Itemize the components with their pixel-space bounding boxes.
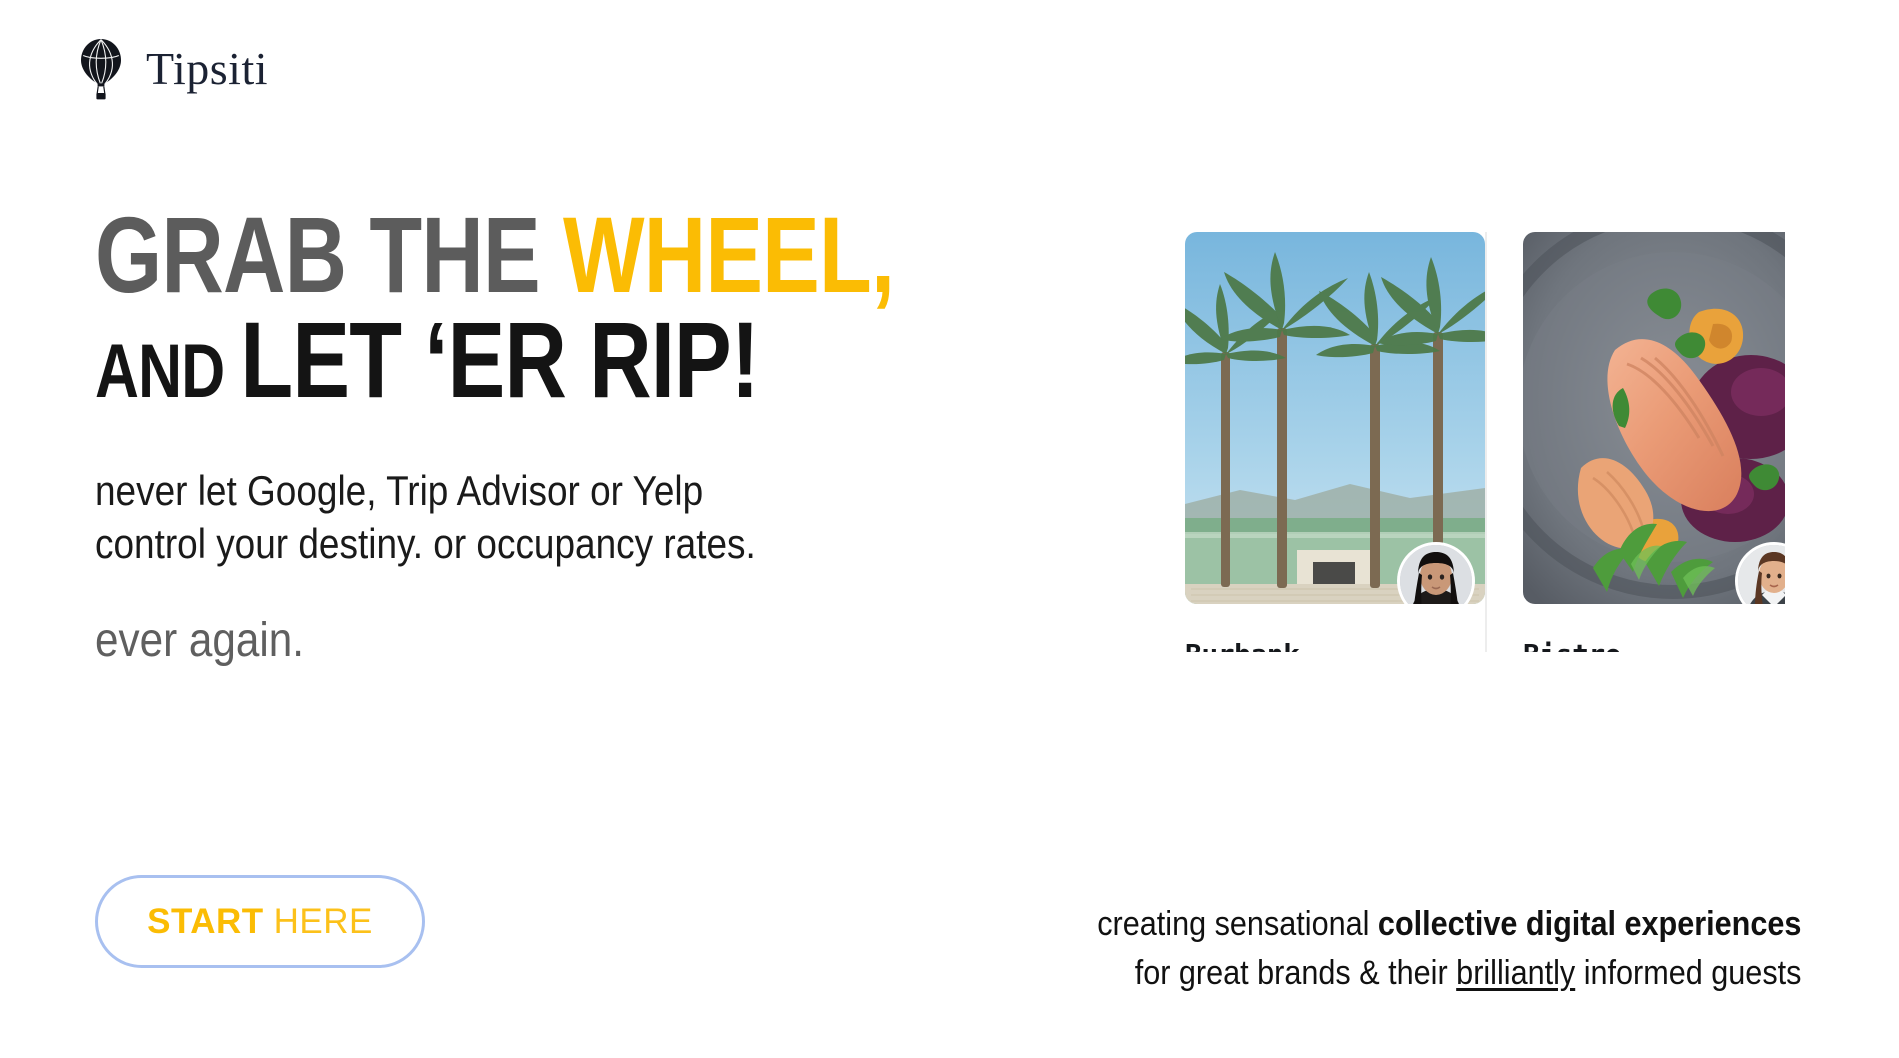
- tagline-line-2: for great brands & their brilliantly inf…: [1097, 949, 1801, 998]
- start-here-button[interactable]: START HERE: [95, 875, 425, 968]
- card-title: Burbank: [1185, 638, 1485, 652]
- headline-and: AND: [95, 329, 240, 414]
- hero-body-line-2: control your destiny. or occupancy rates…: [95, 517, 869, 571]
- cta-label-here: HERE: [274, 902, 373, 942]
- tagline-plain-1: creating sensational: [1097, 905, 1378, 943]
- card-title: Bistro Carmagnole: [1523, 638, 1785, 652]
- cta-label-start: START: [147, 902, 264, 942]
- hot-air-balloon-icon: [78, 38, 124, 100]
- card-bistro-carmagnole[interactable]: Bistro Carmagnole The latest hot spot fo…: [1485, 232, 1785, 652]
- headline-grab-the: GRAB THE: [95, 194, 563, 315]
- headline-wheel: WHEEL,: [563, 194, 894, 315]
- headline-let-er-rip: LET ‘ER RIP!: [240, 299, 758, 420]
- featured-cards: Burbank Home to Universal Studios Hollyw…: [1185, 232, 1785, 652]
- card-burbank[interactable]: Burbank Home to Universal Studios Hollyw…: [1185, 232, 1485, 652]
- hero-section: GRAB THE WHEEL, AND LET ‘ER RIP! never l…: [95, 205, 975, 668]
- headline-line-1: GRAB THE WHEEL,: [95, 205, 799, 304]
- hero-body-text: never let Google, Trip Advisor or Yelp c…: [95, 464, 869, 572]
- tagline-underlined: brilliantly: [1456, 954, 1575, 992]
- hero-body-line-1: never let Google, Trip Advisor or Yelp: [95, 464, 869, 518]
- tagline-bold: collective digital experiences: [1377, 905, 1801, 943]
- hero-closing-text: ever again.: [95, 613, 869, 668]
- card-photo: [1185, 232, 1485, 604]
- tagline-plain-3: informed guests: [1575, 954, 1801, 992]
- brand-logo[interactable]: Tipsiti: [78, 38, 268, 100]
- footer-tagline: creating sensational collective digital …: [1097, 900, 1801, 999]
- brand-name: Tipsiti: [146, 46, 268, 92]
- tagline-line-1: creating sensational collective digital …: [1097, 900, 1801, 949]
- tagline-plain-2: for great brands & their: [1134, 954, 1455, 992]
- card-photo: [1523, 232, 1785, 604]
- headline-line-2: AND LET ‘ER RIP!: [95, 310, 799, 409]
- hero-headline: GRAB THE WHEEL, AND LET ‘ER RIP!: [95, 205, 799, 410]
